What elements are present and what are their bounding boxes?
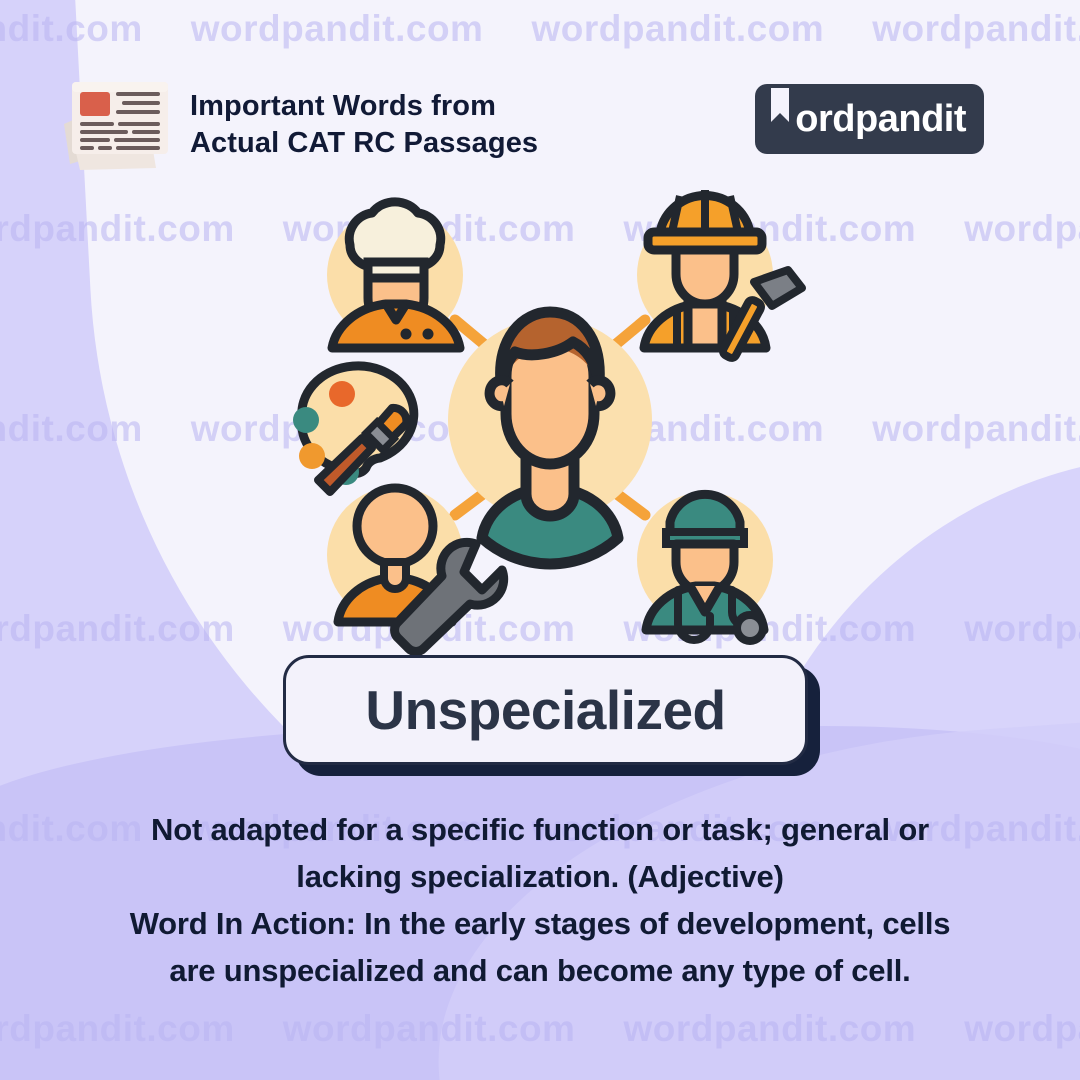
- definition-line-2: lacking specialization. (Adjective): [46, 853, 1034, 900]
- mechanic-icon: [327, 487, 504, 651]
- brand-logo[interactable]: ordpandit: [755, 84, 984, 154]
- word-plate-container: Unspecialized: [283, 655, 808, 765]
- header: Important Words from Actual CAT RC Passa…: [0, 0, 1080, 180]
- definition-block: Not adapted for a specific function or t…: [46, 806, 1034, 994]
- definition-line-3: Word In Action: In the early stages of d…: [46, 900, 1034, 947]
- doctor-icon: [637, 492, 773, 641]
- newspaper-icon: [56, 72, 176, 172]
- generic-person-icon: [448, 312, 652, 564]
- chef-icon: [327, 202, 463, 348]
- word-plate: Unspecialized: [283, 655, 808, 765]
- paint-palette-icon: [293, 366, 414, 492]
- definition-line-1: Not adapted for a specific function or t…: [46, 806, 1034, 853]
- page-title-line-2: Actual CAT RC Passages: [190, 125, 538, 162]
- page-title: Important Words from Actual CAT RC Passa…: [190, 88, 538, 162]
- construction-worker-icon: [637, 190, 802, 360]
- bookmark-w-icon: [763, 88, 797, 150]
- watermark-row: wordpandit.comwordpandit.comwordpandit.c…: [0, 1008, 1080, 1050]
- page-title-line-1: Important Words from: [190, 88, 538, 125]
- professions-illustration: [280, 170, 820, 670]
- vocabulary-word: Unspecialized: [365, 678, 725, 742]
- vocabulary-card: wordpandit.comwordpandit.comwordpandit.c…: [0, 0, 1080, 1080]
- brand-wordmark: ordpandit: [795, 100, 966, 138]
- definition-line-4: are unspecialized and can become any typ…: [46, 947, 1034, 994]
